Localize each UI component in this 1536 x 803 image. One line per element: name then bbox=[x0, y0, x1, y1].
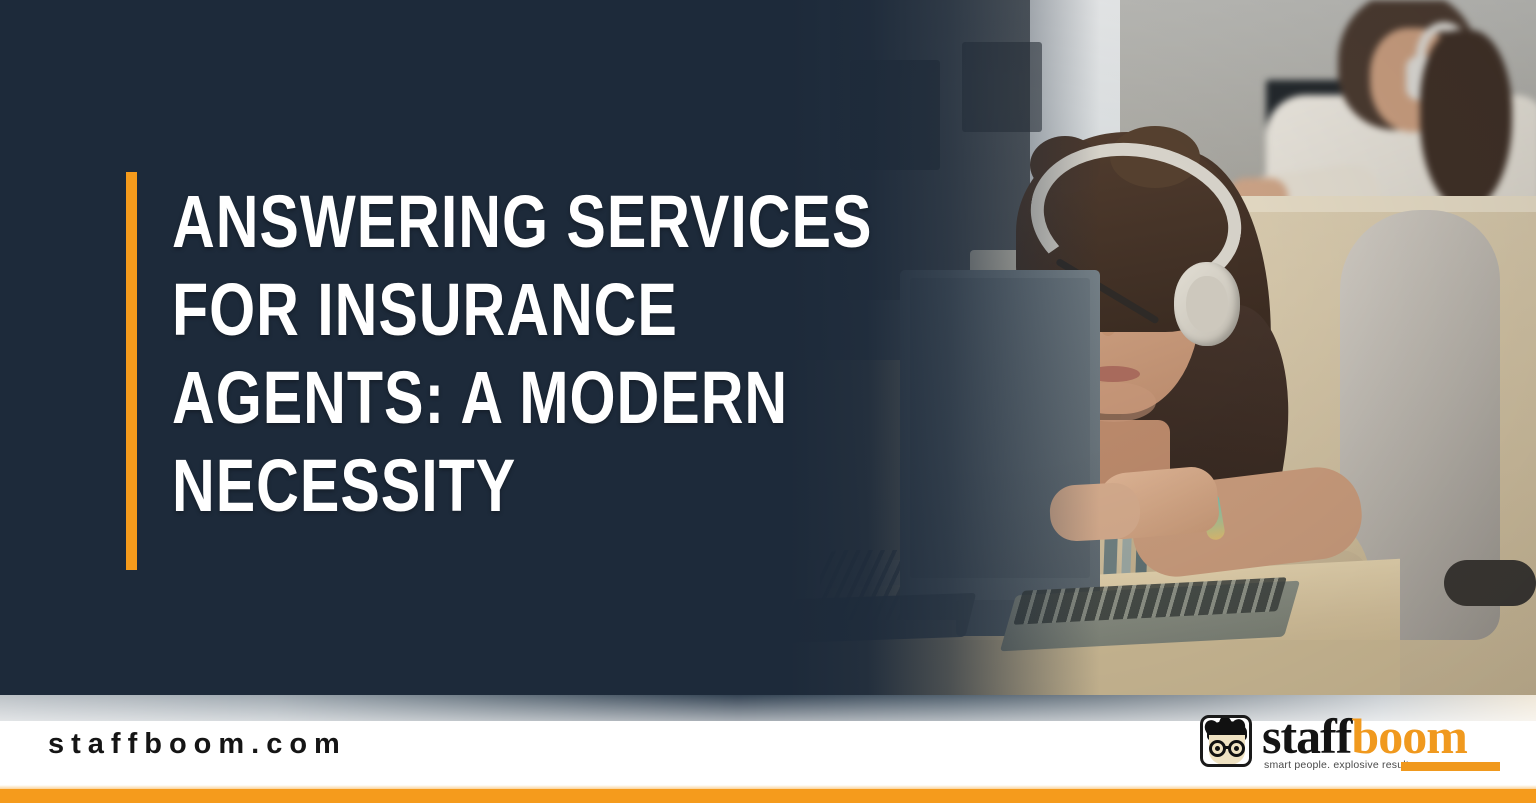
page-title: ANSWERING SERVICES FOR INSURANCE AGENTS:… bbox=[172, 178, 828, 530]
staffboom-face-glasses-icon bbox=[1200, 715, 1252, 767]
logo-word-staff: staff bbox=[1262, 708, 1351, 764]
headline-line-1: ANSWERING SERVICES bbox=[172, 178, 828, 266]
site-url[interactable]: staffboom.com bbox=[48, 728, 347, 761]
logo-tagline: smart people. explosive results. bbox=[1264, 759, 1417, 771]
orange-accent-bar bbox=[126, 172, 137, 570]
logo-orange-rule bbox=[1401, 762, 1500, 771]
logo-word-boom: boom bbox=[1351, 708, 1466, 764]
headline-line-4: NECESSITY bbox=[172, 442, 828, 530]
staffboom-logo[interactable]: staffboom smart people. explosive result… bbox=[1200, 712, 1500, 776]
headline-line-2: FOR INSURANCE bbox=[172, 266, 828, 354]
staffboom-wordmark: staffboom bbox=[1262, 710, 1467, 762]
headline-line-3: AGENTS: A MODERN bbox=[172, 354, 828, 442]
bottom-orange-stripe bbox=[0, 789, 1536, 803]
blog-banner: ANSWERING SERVICES FOR INSURANCE AGENTS:… bbox=[0, 0, 1536, 803]
